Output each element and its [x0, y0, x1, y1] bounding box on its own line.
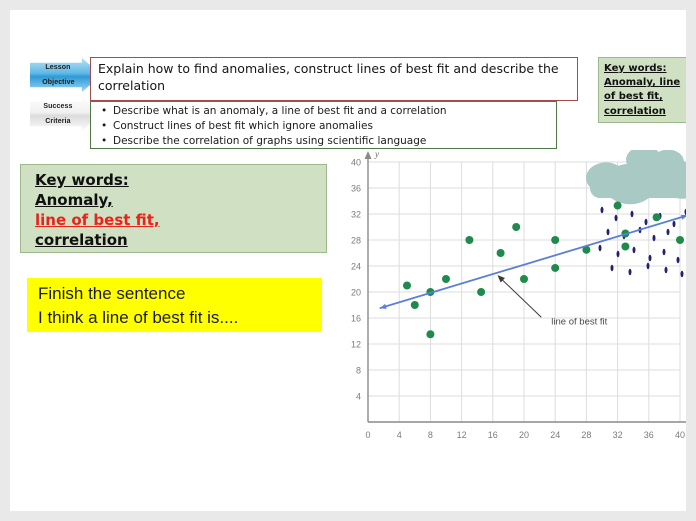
svg-text:line of best fit: line of best fit: [551, 316, 607, 327]
svg-text:36: 36: [644, 430, 654, 440]
key-words-main-line: Key words:: [35, 171, 326, 191]
lesson-objective-text: Explain how to find anomalies, construct…: [98, 61, 570, 95]
svg-text:36: 36: [351, 184, 361, 194]
key-words-top-line: correlation: [604, 105, 686, 119]
svg-text:24: 24: [550, 430, 560, 440]
task-prompt-line1: Finish the sentence: [38, 282, 322, 306]
svg-text:y: y: [374, 150, 379, 159]
svg-text:16: 16: [351, 314, 361, 324]
svg-text:8: 8: [356, 366, 361, 376]
key-words-main-line-highlight: line of best fit,: [35, 211, 326, 231]
svg-text:8: 8: [428, 430, 433, 440]
success-criteria-box: Describe what is an anomaly, a line of b…: [90, 101, 557, 149]
svg-text:20: 20: [351, 288, 361, 298]
task-prompt-box: Finish the sentence I think a line of be…: [27, 278, 322, 332]
key-words-top-line: of best fit,: [604, 90, 686, 104]
success-criteria-tag-line2: Criteria: [42, 118, 73, 125]
svg-text:0: 0: [365, 430, 370, 440]
scatter-chart: 0481216202428323640481216202428323640yx …: [330, 150, 686, 450]
line-of-best-fit-annotation: line of best fit: [497, 275, 607, 327]
key-words-box-main: Key words: Anomaly, line of best fit, co…: [20, 164, 327, 253]
key-words-top-line: Anomaly, line: [604, 76, 686, 90]
svg-text:40: 40: [351, 158, 361, 168]
success-criteria-tag-line1: Success: [42, 103, 73, 110]
success-criteria-item: Describe what is an anomaly, a line of b…: [113, 104, 550, 119]
line-of-best-fit: [380, 215, 686, 309]
svg-text:12: 12: [351, 340, 361, 350]
key-words-main-line: correlation: [35, 231, 326, 251]
scatter-chart-svg: 0481216202428323640481216202428323640yx …: [330, 150, 686, 450]
svg-text:28: 28: [351, 236, 361, 246]
key-words-box-top: Key words: Anomaly, line of best fit, co…: [598, 57, 686, 123]
svg-text:24: 24: [351, 262, 361, 272]
key-words-top-line: Key words:: [604, 62, 686, 76]
success-criteria-list: Describe what is an anomaly, a line of b…: [97, 104, 550, 150]
key-words-main-line: Anomaly,: [35, 191, 326, 211]
success-criteria-item: Describe the correlation of graphs using…: [113, 134, 550, 149]
svg-text:4: 4: [356, 392, 361, 402]
task-prompt-line2: I think a line of best fit is....: [38, 306, 322, 330]
lesson-objective-tag-line1: Lesson: [42, 64, 73, 71]
lesson-objective-tag-line2: Objective: [42, 79, 73, 86]
success-criteria-item: Construct lines of best fit which ignore…: [113, 119, 550, 134]
svg-text:16: 16: [488, 430, 498, 440]
svg-text:20: 20: [519, 430, 529, 440]
svg-text:32: 32: [613, 430, 623, 440]
svg-text:12: 12: [457, 430, 467, 440]
lesson-objective-box: Explain how to find anomalies, construct…: [90, 57, 578, 101]
svg-text:4: 4: [397, 430, 402, 440]
svg-text:32: 32: [351, 210, 361, 220]
svg-text:28: 28: [581, 430, 591, 440]
svg-text:40: 40: [675, 430, 685, 440]
slide-canvas: Lesson Objective Success Criteria Explai…: [10, 10, 686, 511]
